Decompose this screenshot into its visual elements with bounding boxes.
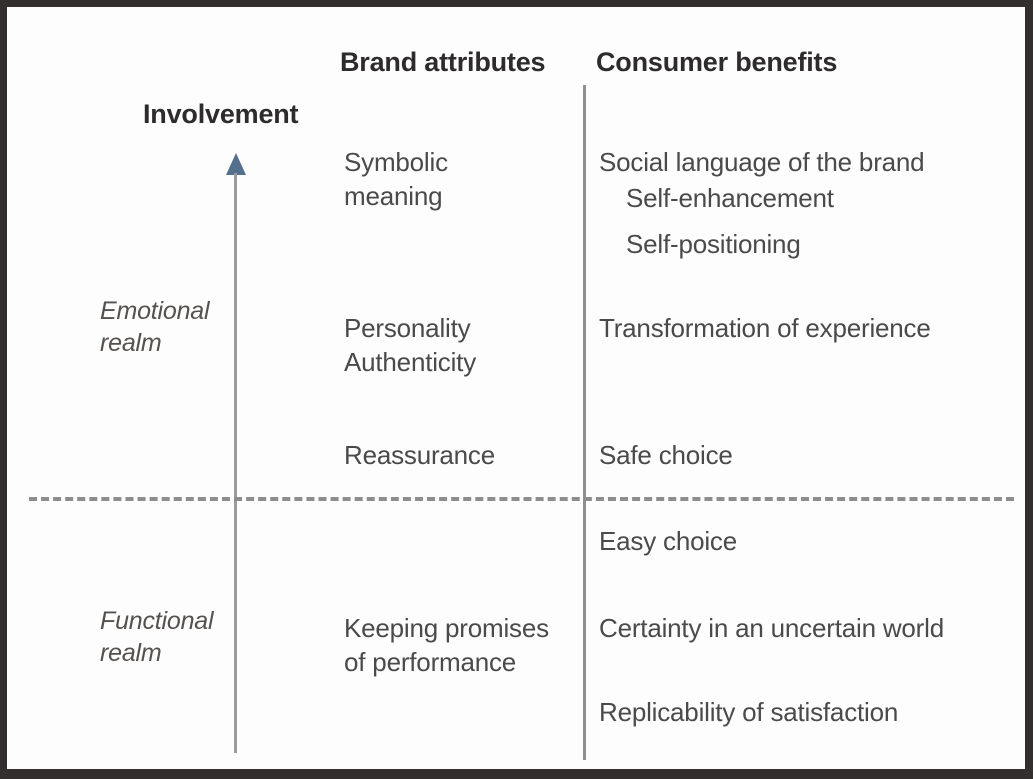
diagram-canvas: Brand attributes Consumer benefits Invol… bbox=[7, 7, 1025, 769]
brand-attribute-row-3: Reassurance bbox=[344, 439, 495, 473]
consumer-benefit-row-2: Transformation of experience bbox=[599, 312, 931, 346]
arrow-up-icon bbox=[226, 153, 246, 175]
axis-title-involvement: Involvement bbox=[143, 99, 298, 130]
column-divider-line bbox=[583, 85, 586, 760]
realm-label-functional: Functional realm bbox=[100, 605, 213, 669]
vertical-axis-line bbox=[234, 173, 237, 753]
brand-attribute-row-5: Keeping promises of performance bbox=[344, 612, 549, 680]
realm-label-emotional: Emotional realm bbox=[100, 295, 209, 359]
figure-frame: Brand attributes Consumer benefits Invol… bbox=[0, 0, 1033, 779]
brand-attribute-row-2: Personality Authenticity bbox=[344, 312, 476, 380]
brand-attribute-row-1: Symbolic meaning bbox=[344, 146, 448, 214]
consumer-benefit-row-1-sub-2: Self-positioning bbox=[626, 228, 801, 262]
consumer-benefit-row-6: Replicability of satisfaction bbox=[599, 696, 898, 730]
realm-boundary-dashed-line bbox=[29, 497, 1014, 501]
consumer-benefit-row-5: Certainty in an uncertain world bbox=[599, 612, 944, 646]
column-header-brand-attributes: Brand attributes bbox=[340, 47, 545, 78]
consumer-benefit-row-3: Safe choice bbox=[599, 439, 733, 473]
column-header-consumer-benefits: Consumer benefits bbox=[596, 47, 837, 78]
consumer-benefit-row-1-sub-1: Self-enhancement bbox=[626, 182, 834, 216]
consumer-benefit-row-1: Social language of the brand bbox=[599, 146, 924, 180]
consumer-benefit-row-4: Easy choice bbox=[599, 525, 737, 559]
